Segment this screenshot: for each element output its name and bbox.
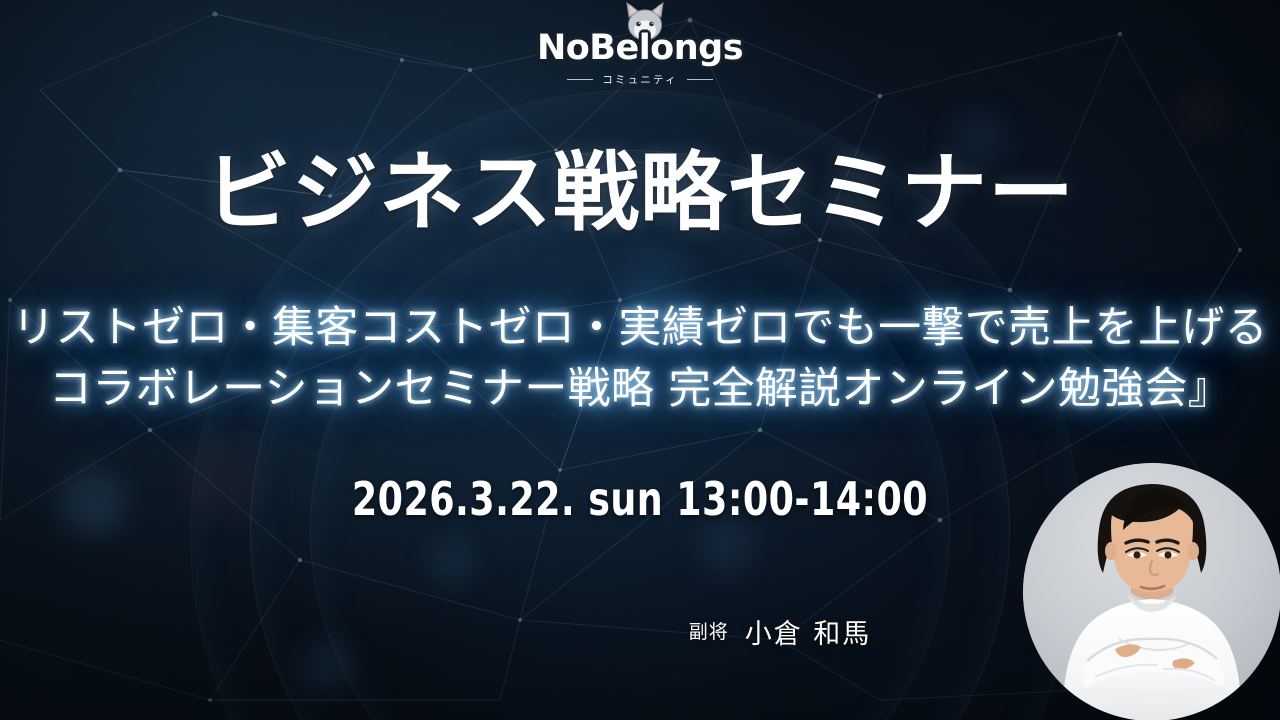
presenter-portrait: [1023, 463, 1280, 720]
subtitle: リストゼロ・集客コストゼロ・実績ゼロでも一撃で売上を上げる コラボレーションセミ…: [0, 298, 1280, 420]
page-title: ビジネス戦略セミナー: [0, 148, 1280, 239]
portrait-illustration: [1023, 463, 1280, 720]
presenter-credit: 副将小倉 和馬: [620, 612, 940, 651]
subtitle-line-2: コラボレーションセミナー戦略 完全解説オンライン勉強会』: [0, 359, 1280, 420]
presenter-role: 副将: [689, 621, 729, 643]
logo-tagline: コミュニティ: [602, 72, 678, 87]
subtitle-line-1: リストゼロ・集客コストゼロ・実績ゼロでも一撃で売上を上げる: [12, 303, 1268, 353]
logo-wordmark-wrap: NoBelongs: [537, 28, 743, 68]
schedule-text: 2026.3.22. sun 13:00-14:00: [77, 472, 1203, 526]
tagline-rule-right: [687, 79, 713, 80]
presenter-name: 小倉 和馬: [745, 619, 872, 650]
logo-wordmark: NoBelongs: [537, 28, 743, 68]
logo-tagline-row: コミュニティ: [567, 72, 713, 87]
seminar-banner: NoBelongs コミュニティ ビジネス戦略セミナー リストゼロ・集客コストゼ…: [0, 0, 1280, 720]
tagline-rule-left: [567, 79, 593, 80]
brand-logo: NoBelongs コミュニティ: [0, 28, 1280, 87]
